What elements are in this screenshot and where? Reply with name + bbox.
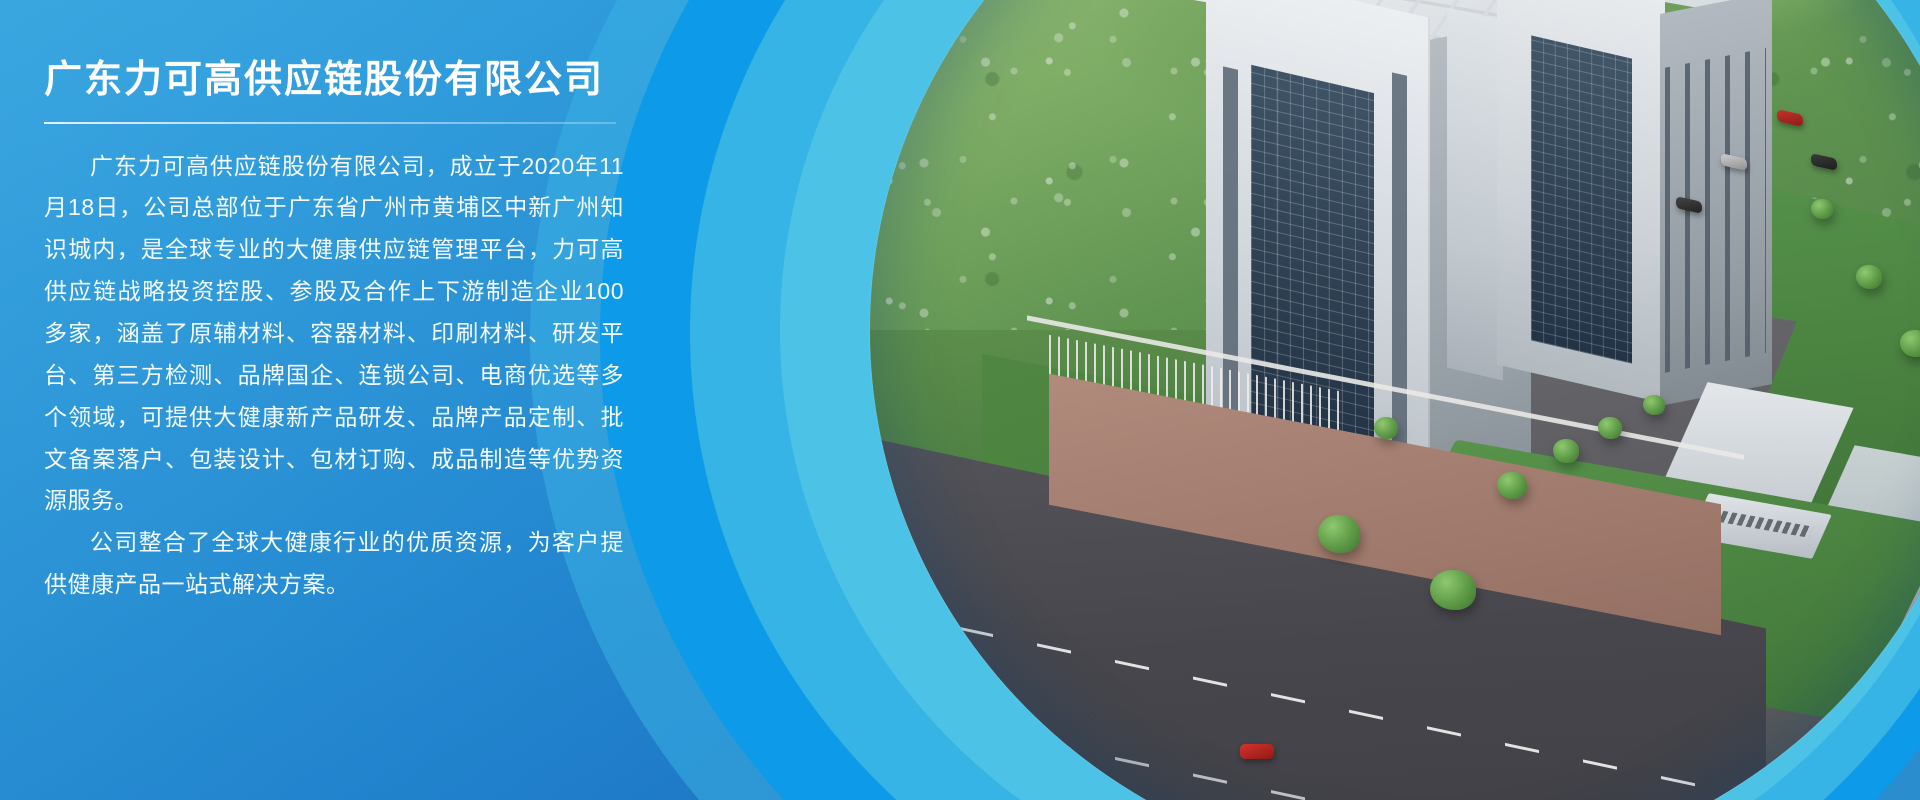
side-window-slits — [1665, 48, 1766, 373]
street-tree — [1643, 395, 1665, 415]
street-tree — [1430, 570, 1476, 610]
street-tree — [1497, 472, 1527, 499]
title-divider — [44, 122, 616, 124]
road-lane-marking-1 — [870, 594, 1766, 800]
secondary-building-curtain-wall — [1531, 35, 1632, 363]
description-paragraph-1: 广东力可高供应链股份有限公司，成立于2020年11月18日，公司总部位于广东省广… — [44, 146, 624, 523]
company-text-panel: 广东力可高供应链股份有限公司 广东力可高供应链股份有限公司，成立于2020年11… — [0, 0, 660, 800]
street-tree — [1811, 199, 1833, 219]
street-tree — [1374, 417, 1398, 439]
street-tree — [1318, 515, 1360, 553]
street-tree — [1856, 265, 1882, 289]
facility-photo-disc — [870, 0, 1920, 800]
facade-pilaster-right — [1392, 72, 1407, 457]
street-tree — [1553, 439, 1579, 463]
facility-aerial-render — [870, 0, 1920, 800]
signage-text-glyphs — [1710, 510, 1814, 539]
road-lane-marking-2 — [870, 691, 1766, 800]
company-description: 广东力可高供应链股份有限公司，成立于2020年11月18日，公司总部位于广东省广… — [44, 146, 624, 606]
company-profile-banner: 广东力可高供应链股份有限公司 广东力可高供应链股份有限公司，成立于2020年11… — [0, 0, 1920, 800]
street-tree — [1598, 417, 1622, 439]
description-paragraph-2: 公司整合了全球大健康行业的优质资源，为客户提供健康产品一站式解决方案。 — [44, 522, 624, 606]
parked-car-red — [1240, 744, 1274, 759]
page-title: 广东力可高供应链股份有限公司 — [44, 58, 660, 104]
connector-tower — [1447, 7, 1503, 380]
